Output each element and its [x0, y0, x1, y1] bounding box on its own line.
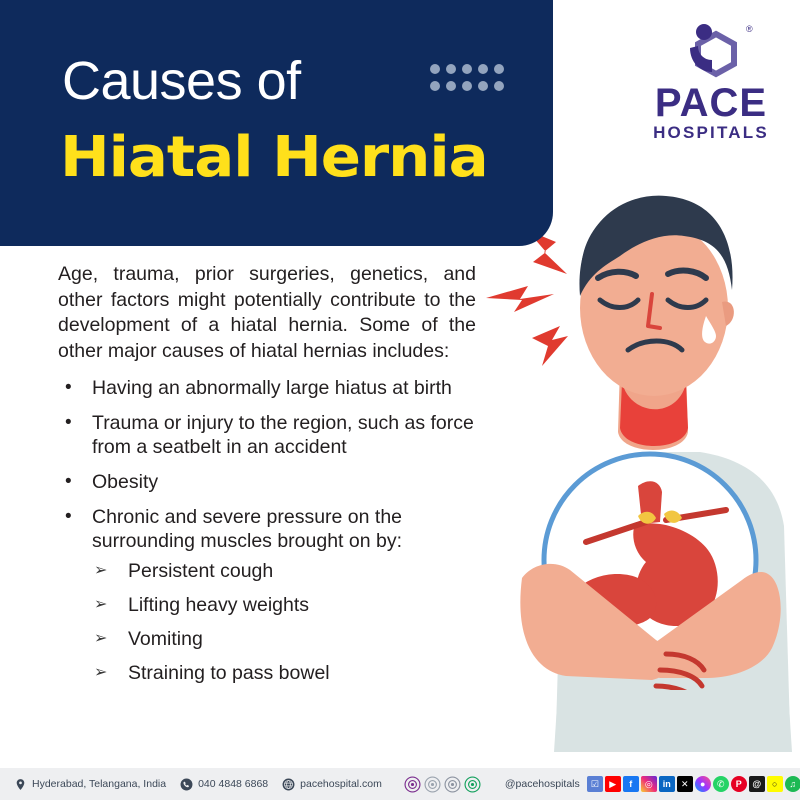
registered-trademark-mark: ®: [746, 24, 753, 34]
logo-name: PACE: [636, 82, 786, 124]
cause-list-item-label: Trauma or injury to the region, such as …: [92, 412, 474, 458]
footer-bar: Hyderabad, Telangana, India040 4848 6868…: [0, 768, 800, 800]
whatsapp-icon[interactable]: ✆: [713, 776, 729, 792]
causes-list: •Having an abnormally large hiatus at bi…: [58, 376, 476, 685]
decorative-dot: [446, 81, 456, 91]
footer-contact-item[interactable]: Hyderabad, Telangana, India: [14, 778, 166, 791]
messenger-icon[interactable]: ●: [695, 776, 711, 792]
iso-badge: [444, 776, 461, 793]
cause-list-item: •Trauma or injury to the region, such as…: [58, 411, 476, 459]
nabh-badge: [404, 776, 421, 793]
linkedin-icon[interactable]: in: [659, 776, 675, 792]
bullet-marker-icon: •: [65, 470, 72, 494]
footer-contact-label: Hyderabad, Telangana, India: [32, 778, 166, 790]
content-body: Age, trauma, prior surgeries, genetics, …: [58, 262, 476, 696]
spotify-icon[interactable]: ♫: [785, 776, 800, 792]
cause-list-item-label: Chronic and severe pressure on the surro…: [92, 506, 402, 552]
arrow-marker-icon: ➢: [94, 558, 107, 584]
globe-icon: [282, 778, 295, 791]
cause-list-item: •Chronic and severe pressure on the surr…: [58, 505, 476, 685]
decorative-dot: [478, 81, 488, 91]
arrow-marker-icon: ➢: [94, 592, 107, 618]
cause-list-item: •Obesity: [58, 470, 476, 494]
arrow-marker-icon: ➢: [94, 660, 107, 686]
phone-icon: [180, 778, 193, 791]
page-title-line2: Hiatal Hernia: [60, 128, 488, 188]
pain-bolt-icons: [486, 230, 568, 366]
facebook-icon[interactable]: f: [623, 776, 639, 792]
cause-sub-list-item: ➢Persistent cough: [92, 559, 476, 583]
cause-list-item: •Having an abnormally large hiatus at bi…: [58, 376, 476, 400]
decorative-dot: [462, 64, 472, 74]
arrow-marker-icon: ➢: [94, 626, 107, 652]
logo-hexagon-person-icon: [682, 22, 744, 84]
cause-sub-list-item: ➢Lifting heavy weights: [92, 593, 476, 617]
cause-list-item-label: Obesity: [92, 471, 158, 493]
social-handle: @pacehospitals: [505, 778, 580, 790]
threads-icon[interactable]: @: [749, 776, 765, 792]
decorative-dot: [478, 64, 488, 74]
decorative-dot: [462, 81, 472, 91]
cause-sub-list-item-label: Straining to pass bowel: [128, 662, 330, 684]
decorative-dot-grid: [430, 64, 510, 98]
location-pin-icon: [14, 778, 27, 791]
footer-contact-item[interactable]: pacehospital.com: [282, 778, 382, 791]
decorative-dot: [494, 64, 504, 74]
logo-subtitle: HOSPITALS: [636, 124, 786, 142]
social-media-icons: ☑▶f◎in✕●✆P@○♫: [587, 776, 800, 792]
bullet-marker-icon: •: [65, 411, 72, 435]
bullet-marker-icon: •: [65, 376, 72, 400]
nabl-badge: [424, 776, 441, 793]
decorative-dot: [430, 81, 440, 91]
cause-list-item-label: Having an abnormally large hiatus at bir…: [92, 377, 452, 399]
accreditation-badge: [464, 776, 481, 793]
bullet-marker-icon: •: [65, 505, 72, 529]
practo-icon[interactable]: ☑: [587, 776, 603, 792]
footer-contact-item[interactable]: 040 4848 6868: [180, 778, 268, 791]
cause-sub-list-item: ➢Straining to pass bowel: [92, 661, 476, 685]
cause-sub-list-item-label: Persistent cough: [128, 560, 273, 582]
cause-sub-list-item-label: Vomiting: [128, 628, 203, 650]
decorative-dot: [430, 64, 440, 74]
pinterest-icon[interactable]: P: [731, 776, 747, 792]
certification-badges: [404, 776, 481, 793]
header-panel: Causes of Hiatal Hernia: [0, 0, 553, 246]
page-title-line1: Causes of: [62, 52, 301, 110]
cause-sub-list-item-label: Lifting heavy weights: [128, 594, 309, 616]
illustration-man-with-stomach-pain: [470, 170, 800, 770]
footer-contact-label: pacehospital.com: [300, 778, 382, 790]
infographic-poster: Causes of Hiatal Hernia ® PACE HOSPITALS…: [0, 0, 800, 800]
twitter-x-icon[interactable]: ✕: [677, 776, 693, 792]
cause-sub-list: ➢Persistent cough➢Lifting heavy weights➢…: [92, 559, 476, 685]
decorative-dot: [494, 81, 504, 91]
pace-hospitals-logo: ® PACE HOSPITALS: [636, 22, 786, 147]
snapchat-icon[interactable]: ○: [767, 776, 783, 792]
cause-sub-list-item: ➢Vomiting: [92, 627, 476, 651]
instagram-icon[interactable]: ◎: [641, 776, 657, 792]
intro-paragraph: Age, trauma, prior surgeries, genetics, …: [58, 262, 476, 364]
youtube-icon[interactable]: ▶: [605, 776, 621, 792]
footer-contact-label: 040 4848 6868: [198, 778, 268, 790]
decorative-dot: [446, 64, 456, 74]
